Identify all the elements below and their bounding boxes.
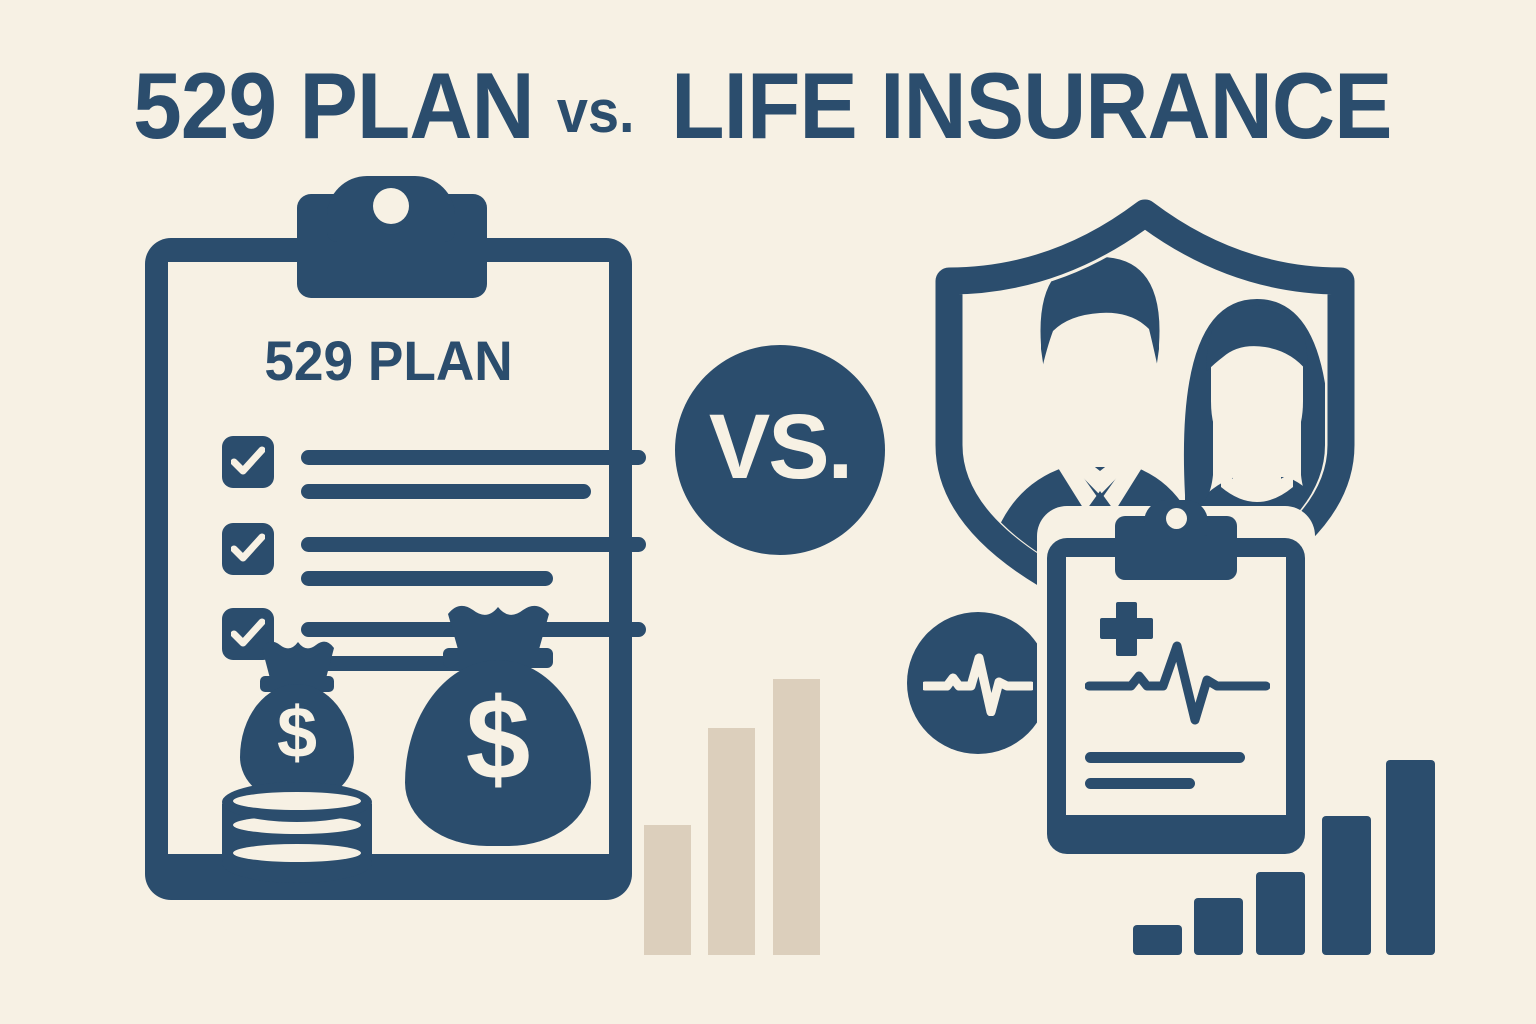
checklist-text-line	[301, 537, 646, 552]
pulse-icon	[923, 652, 1033, 716]
bar	[708, 728, 755, 955]
vs-badge: VS.	[675, 345, 885, 555]
bar	[1256, 872, 1305, 955]
title-part-2: LIFE INSURANCE	[671, 52, 1391, 160]
medical-cross-icon	[1100, 618, 1153, 639]
coin-highlight	[233, 792, 361, 810]
bar	[773, 679, 820, 955]
clipboard-medical-clip-hole	[1166, 508, 1187, 529]
checklist-row	[222, 523, 622, 615]
title-part-1: 529 PLAN	[133, 52, 534, 160]
title-separator-vs: vs.	[552, 77, 641, 146]
clipboard-clip-hole	[373, 188, 409, 224]
infographic-canvas: 529 PLANvs.LIFE INSURANCE 529 PLAN	[0, 0, 1536, 1024]
clipboard-medical-text-line	[1085, 778, 1195, 789]
money-bag-small-with-coins: $	[222, 640, 372, 850]
checkbox-checked-icon[interactable]	[222, 436, 274, 488]
clipboard-medical-text-line	[1085, 752, 1245, 763]
bar	[1133, 925, 1182, 955]
vs-badge-label: VS.	[709, 395, 851, 500]
dollar-sign-icon: $	[240, 692, 354, 774]
clipboard-heading: 529 PLAN	[157, 328, 620, 393]
checklist-text-line	[301, 571, 553, 586]
bar	[1194, 898, 1243, 955]
checklist-row	[222, 436, 622, 528]
checklist-text-line	[301, 450, 646, 465]
check-mark-icon	[231, 533, 265, 565]
check-mark-icon	[231, 446, 265, 478]
bar	[644, 825, 691, 955]
money-bag-large: $	[405, 604, 591, 850]
checklist-text-line	[301, 484, 591, 499]
heartbeat-pulse-badge	[907, 612, 1049, 754]
page-title: 529 PLANvs.LIFE INSURANCE	[0, 52, 1536, 160]
ecg-heartbeat-icon	[1085, 638, 1270, 728]
clipboard-medical	[1047, 528, 1305, 854]
bar	[1322, 816, 1371, 955]
bar	[1386, 760, 1435, 955]
checkbox-checked-icon[interactable]	[222, 523, 274, 575]
coin-highlight	[233, 844, 361, 862]
dollar-sign-icon: $	[405, 674, 591, 804]
